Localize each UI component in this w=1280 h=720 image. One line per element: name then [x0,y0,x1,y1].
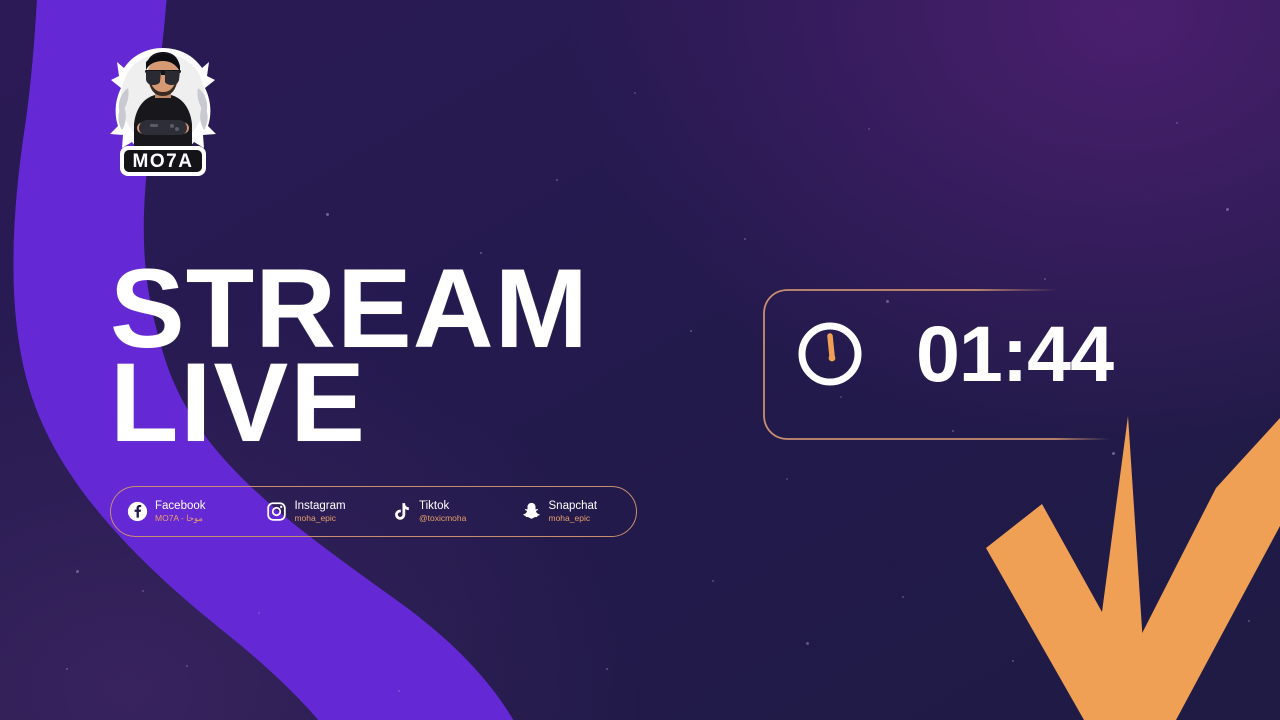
headline-line-live: LIVE [110,356,589,450]
page-title: STREAM LIVE [110,262,589,450]
social-name-tiktok: Tiktok [419,500,466,512]
clock-icon [796,320,864,388]
mascot-logo-icon: MO7A [108,42,218,187]
social-name-snapchat: Snapchat [549,500,598,512]
social-item-tiktok[interactable]: Tiktok @toxicmoha [375,487,505,536]
snapchat-icon [521,501,542,522]
instagram-icon [266,501,287,522]
social-handle-tiktok: @toxicmoha [419,514,466,523]
stream-timer-panel: 01:44 [762,288,1112,441]
logo-text: MO7A [133,151,194,172]
timer-value: 01:44 [916,314,1113,393]
social-handle-facebook: MO7A - موحا [155,514,206,523]
social-handle-snapchat: moha_epic [549,514,598,523]
facebook-icon [127,501,148,522]
social-item-facebook[interactable]: Facebook MO7A - موحا [111,487,250,536]
channel-logo[interactable]: MO7A [108,42,218,187]
social-name-facebook: Facebook [155,500,206,512]
social-links-bar: Facebook MO7A - موحا Instagram moha_epic [110,486,637,537]
social-handle-instagram: moha_epic [294,514,345,523]
stream-overlay-canvas: MO7A STREAM LIVE Facebook MO7A - موحا [0,0,1280,720]
social-item-instagram[interactable]: Instagram moha_epic [250,487,375,536]
social-item-snapchat[interactable]: Snapchat moha_epic [505,487,637,536]
orange-swoosh-shape [980,400,1280,720]
tiktok-icon [391,501,412,522]
social-name-instagram: Instagram [294,500,345,512]
